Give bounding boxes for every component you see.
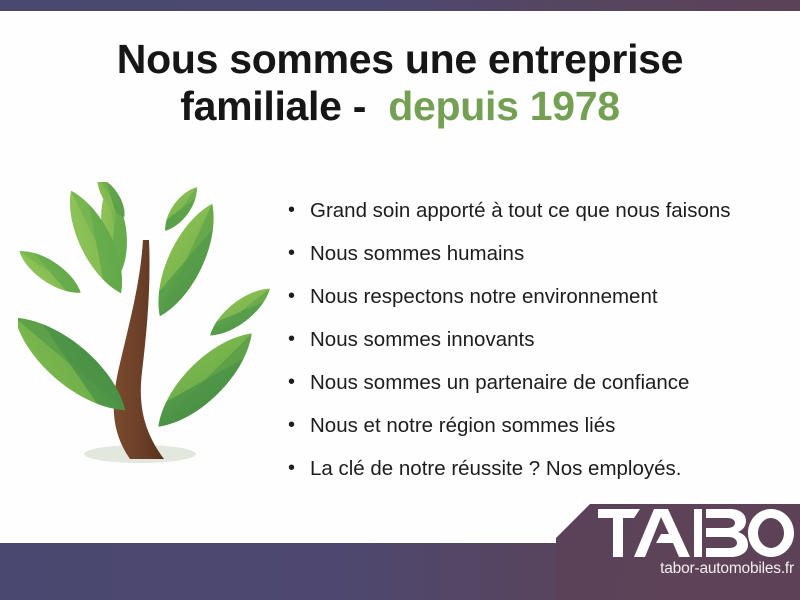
list-item-label: Nous sommes innovants xyxy=(310,328,534,351)
list-item: •Nous et notre région sommes liés xyxy=(286,404,786,447)
tree-svg xyxy=(18,182,270,487)
bullet-marker-icon: • xyxy=(288,232,295,275)
value-bullet-list: •Grand soin apporté à tout ce que nous f… xyxy=(286,189,786,490)
list-item: •La clé de notre réussite ? Nos employés… xyxy=(286,447,786,490)
slide-canvas: Nous sommes une entreprise familiale - d… xyxy=(0,0,800,600)
bullet-marker-icon: • xyxy=(288,361,295,404)
bullet-marker-icon: • xyxy=(288,318,295,361)
list-item: •Nous sommes un partenaire de confiance xyxy=(286,361,786,404)
title-line-2: familiale - depuis 1978 xyxy=(0,83,800,130)
page-title: Nous sommes une entreprise familiale - d… xyxy=(0,36,800,129)
list-item-label: Nous respectons notre environnement xyxy=(310,285,658,308)
bullet-marker-icon: • xyxy=(288,447,295,490)
list-item: •Nous respectons notre environnement xyxy=(286,275,786,318)
bullet-marker-icon: • xyxy=(288,275,295,318)
title-line-1: Nous sommes une entreprise xyxy=(0,36,800,83)
tree-illustration xyxy=(18,182,270,487)
tabor-logo-icon xyxy=(598,509,794,557)
list-item: •Nous sommes humains xyxy=(286,232,786,275)
tabor-logo-wordmark xyxy=(598,509,794,557)
list-item-label: Nous sommes un partenaire de confiance xyxy=(310,371,689,394)
list-item: •Nous sommes innovants xyxy=(286,318,786,361)
bullet-marker-icon: • xyxy=(288,404,295,447)
title-line-2-plain: familiale - xyxy=(180,83,388,129)
list-item-label: La clé de notre réussite ? Nos employés. xyxy=(310,457,681,480)
list-item: •Grand soin apporté à tout ce que nous f… xyxy=(286,189,786,232)
top-accent-bar xyxy=(0,0,800,11)
list-item-label: Nous et notre région sommes liés xyxy=(310,414,615,437)
bullet-marker-icon: • xyxy=(288,189,295,232)
list-item-label: Nous sommes humains xyxy=(310,242,524,265)
list-item-label: Grand soin apporté à tout ce que nous fa… xyxy=(310,199,731,222)
title-accent-since: depuis 1978 xyxy=(388,83,619,129)
brand-url: tabor-automobiles.fr xyxy=(556,560,794,578)
